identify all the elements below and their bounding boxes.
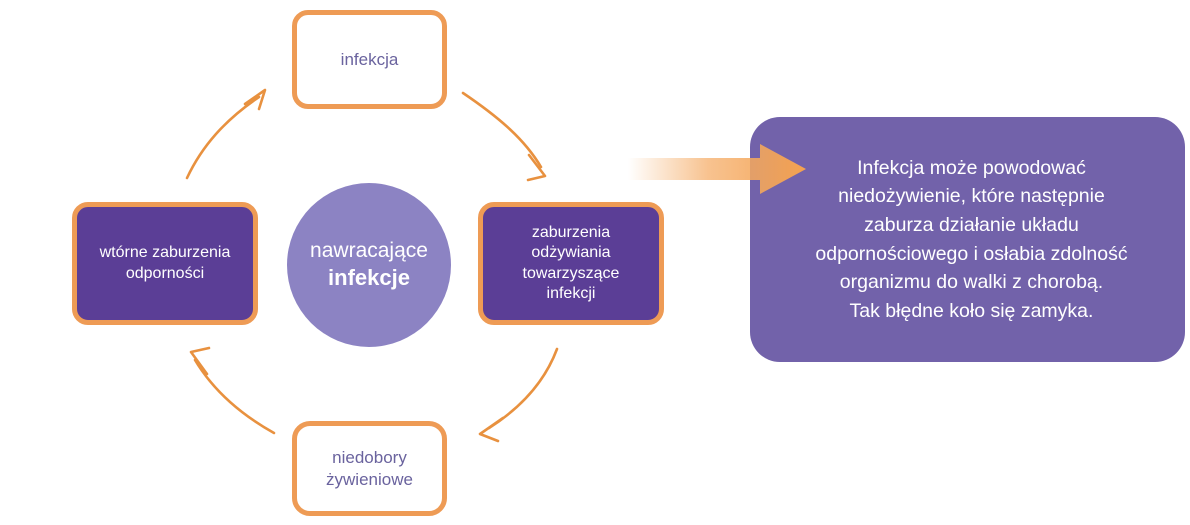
center-circle-line-2: infekcje (328, 264, 410, 293)
arrow-immunity-to-infection (187, 90, 265, 178)
arrow-infection-to-nutrition (463, 93, 545, 180)
node-infection[interactable]: infekcja (292, 10, 447, 109)
node-nutrition-disorders[interactable]: zaburzenia odżywiania towarzyszące infek… (478, 202, 664, 325)
arrow-deficiency-to-immunity (191, 348, 274, 433)
diagram-canvas: wtórne zaburzenia odporności infekcja za… (0, 0, 1190, 525)
center-circle-recurrent-infections[interactable]: nawracające infekcje (287, 183, 451, 347)
node-deficiency-label: niedobory żywieniowe (326, 447, 413, 491)
center-circle-line-1: nawracające (310, 237, 428, 264)
node-immunity-label: wtórne zaburzenia odporności (100, 243, 231, 284)
callout-explanation-box[interactable]: Infekcja może powodować niedożywienie, k… (750, 117, 1185, 362)
callout-text: Infekcja może powodować niedożywienie, k… (815, 154, 1127, 326)
node-nutrition-label: zaburzenia odżywiania towarzyszące infek… (523, 223, 620, 305)
arrow-nutrition-to-deficiency (480, 349, 557, 441)
node-secondary-immune-disorders[interactable]: wtórne zaburzenia odporności (72, 202, 258, 325)
node-infection-label: infekcja (341, 49, 399, 71)
node-nutritional-deficiencies[interactable]: niedobory żywieniowe (292, 421, 447, 516)
